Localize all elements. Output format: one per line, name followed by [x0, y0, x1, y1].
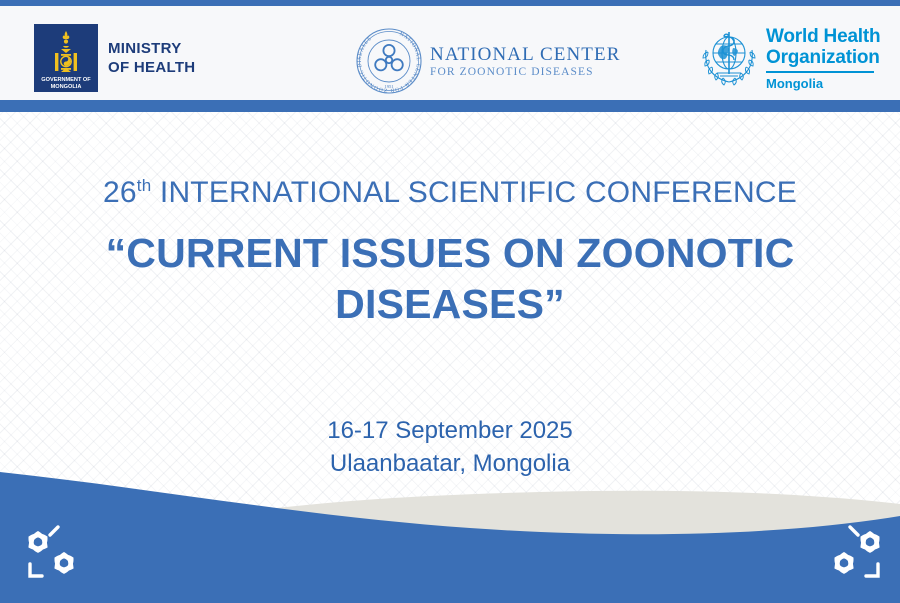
moh-line2: OF HEALTH — [108, 59, 195, 76]
logo-national-center-zoonotic-diseases: NATIONAL CENTER FOR ZOONOTIC DISEASES 19… — [352, 24, 620, 98]
who-emblem — [700, 26, 758, 86]
who-text: World Health Organization Mongolia — [766, 26, 880, 91]
emblem-caption-line1: GOVERNMENT OF — [41, 77, 91, 83]
header-bottom-rule — [0, 100, 900, 112]
who-line1: World Health — [766, 26, 880, 47]
who-line2: Organization — [766, 47, 880, 68]
conference-subtitle: 26th INTERNATIONAL SCIENTIFIC CONFERENCE — [0, 176, 900, 210]
mongolia-soyombo-emblem: GOVERNMENT OF MONGOLIA — [34, 24, 98, 92]
wave-blue — [0, 472, 900, 603]
seal-year: 1951 — [384, 84, 394, 89]
logo-row: GOVERNMENT OF MONGOLIA MINISTRY OF HEALT… — [0, 6, 900, 100]
page-title: “CURRENT ISSUES ON ZOONOTIC DISEASES” — [60, 228, 840, 330]
mongolian-knot-ornament-right — [816, 522, 894, 584]
who-line3: Mongolia — [766, 76, 880, 91]
conference-number: 26 — [103, 176, 137, 209]
logo-world-health-organization: World Health Organization Mongolia — [700, 26, 880, 91]
ministry-of-health-text: MINISTRY OF HEALTH — [108, 39, 195, 77]
conference-title-slide: GOVERNMENT OF MONGOLIA MINISTRY OF HEALT… — [0, 0, 900, 603]
nczd-text: NATIONAL CENTER FOR ZOONOTIC DISEASES — [430, 44, 620, 79]
logo-ministry-of-health: GOVERNMENT OF MONGOLIA MINISTRY OF HEALT… — [34, 24, 195, 92]
moh-line1: MINISTRY — [108, 40, 182, 57]
who-underline-rule — [766, 71, 874, 73]
mongolian-knot-ornament-left — [14, 522, 92, 584]
nczd-line1: NATIONAL CENTER — [430, 44, 620, 65]
conference-ordinal: th — [137, 176, 152, 195]
emblem-caption-line2: MONGOLIA — [51, 84, 82, 90]
footer-wave-band — [0, 430, 900, 603]
conference-subtitle-text: INTERNATIONAL SCIENTIFIC CONFERENCE — [151, 176, 797, 209]
nczd-line2: FOR ZOONOTIC DISEASES — [430, 65, 620, 79]
nczd-biohazard-seal: NATIONAL CENTER FOR ZOONOTIC DISEASES 19… — [352, 24, 426, 98]
